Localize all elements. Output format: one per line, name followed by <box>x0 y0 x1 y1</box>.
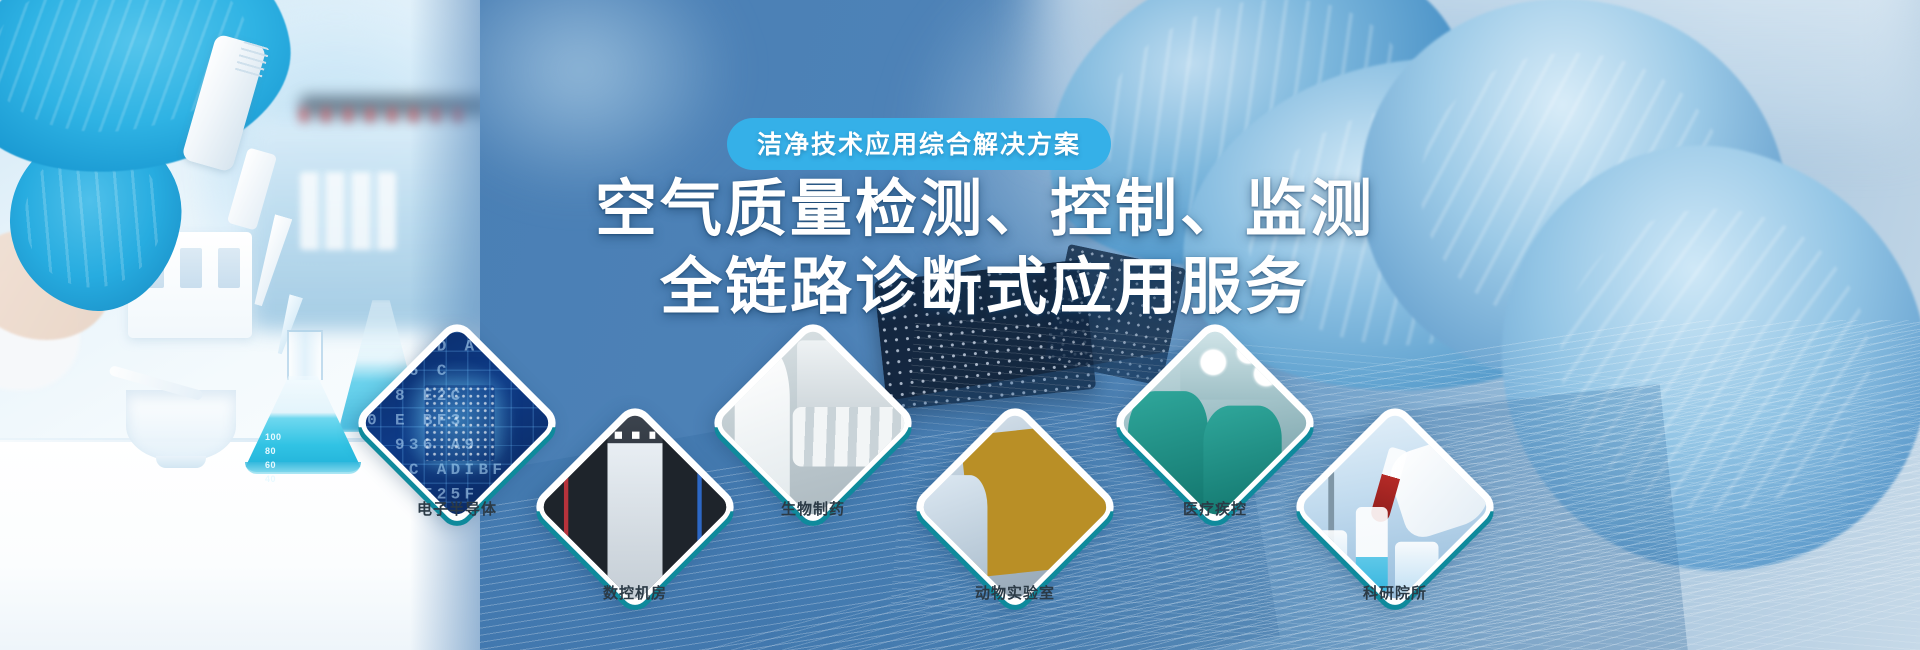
card-image-clip <box>1299 411 1491 603</box>
card-image-clip <box>717 327 909 519</box>
industry-card-semiconductor[interactable]: E2 F D A5926 C7 8 E2C0 E BF37 936 A9B8 C… <box>382 348 532 498</box>
industry-card-label: 科研院所 <box>1298 582 1492 603</box>
card-image-clip <box>539 411 731 603</box>
medical-surgery-icon <box>1119 327 1311 519</box>
industry-card-row: E2 F D A5926 C7 8 E2C0 E BF37 936 A9B8 C… <box>0 0 1920 650</box>
industry-card-label: 数控机房 <box>538 582 732 603</box>
server-cable-red <box>564 451 568 574</box>
industry-card-biopharma[interactable]: 生物制药 <box>738 348 888 498</box>
animal-laboratory-icon <box>919 411 1111 603</box>
industry-card-medical[interactable]: 医疗疾控 <box>1140 348 1290 498</box>
chip-die <box>423 386 494 461</box>
lab-stand <box>1328 468 1334 559</box>
industry-card-label: 医疗疾控 <box>1118 498 1312 519</box>
industry-card-animal-lab[interactable]: 动物实验室 <box>940 432 1090 582</box>
biopharma-icon <box>717 327 909 519</box>
card-image-clip: E2 F D A5926 C7 8 E2C0 E BF37 936 A9B8 C… <box>361 327 553 519</box>
server-cable-blue <box>698 455 702 570</box>
semiconductor-chip-icon: E2 F D A5926 C7 8 E2C0 E BF37 936 A9B8 C… <box>361 327 553 519</box>
lab-technician <box>920 475 987 597</box>
industry-card-research[interactable]: 科研院所 <box>1320 432 1470 582</box>
server-room-icon <box>539 411 731 603</box>
server-rack-left <box>539 426 608 603</box>
pharma-pipes <box>793 407 907 466</box>
industry-card-server-room[interactable]: 数控机房 <box>560 432 710 582</box>
surgical-lamp <box>1179 332 1289 399</box>
server-aisle <box>607 444 662 603</box>
industry-card-label: 生物制药 <box>716 498 910 519</box>
industry-card-label: 电子半导体 <box>360 498 554 519</box>
pharma-worker <box>734 352 789 510</box>
card-image-clip <box>919 411 1111 603</box>
industry-card-label: 动物实验室 <box>918 582 1112 603</box>
ceiling-lights <box>615 432 654 439</box>
hero-banner: 100 80 60 40 洁净技术应用综合解决方 <box>0 0 1920 650</box>
card-image-clip <box>1119 327 1311 519</box>
research-institute-icon <box>1299 411 1491 603</box>
surgeon-1 <box>1128 391 1207 513</box>
